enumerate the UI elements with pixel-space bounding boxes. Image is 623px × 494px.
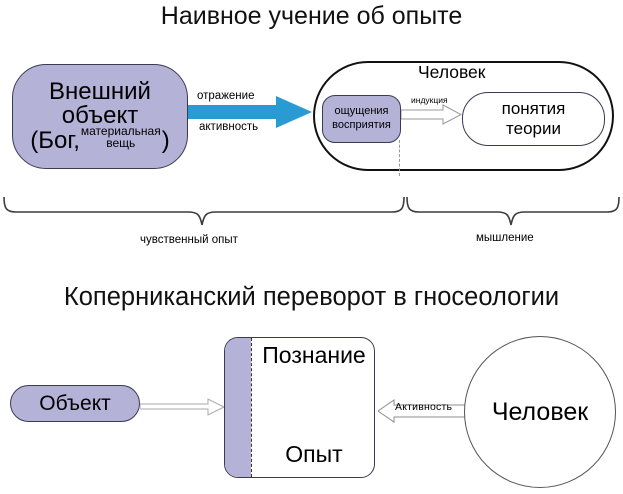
object-to-cognition-arrow-icon (140, 396, 226, 418)
activity-arrow-label: Активность (395, 401, 452, 413)
human-container-label: Человек (418, 62, 485, 83)
bottom-diagram-title: Коперниканский переворот в гносеологии (0, 283, 623, 312)
external-object-paren-close: ) (162, 129, 170, 153)
external-object-box: Внешний объект (Бог, материальная вещь ) (12, 64, 188, 169)
sensations-perceptions-box: ощущения восприятия (322, 95, 401, 143)
external-object-small-line2: вещь (106, 136, 135, 150)
cognition-dashed-divider (251, 338, 252, 477)
slide-canvas: Наивное учение об опыте Внешний объект (… (0, 0, 623, 494)
sensory-experience-brace (2, 196, 406, 228)
object-pill: Объект (10, 385, 140, 422)
thinking-brace (405, 196, 621, 228)
human-circle: Человек (464, 336, 616, 488)
concepts-theories-box: понятия теории (462, 92, 605, 146)
dashed-divider-line (399, 140, 400, 176)
concepts-line2: теории (506, 119, 561, 139)
cognition-label: Познание (255, 342, 373, 369)
induction-arrow-icon (401, 104, 463, 130)
cognition-experience-box: Познание Опыт (224, 337, 375, 478)
external-object-line1: Внешний (49, 80, 151, 104)
concepts-line1: понятия (502, 99, 566, 119)
human-circle-label: Человек (492, 398, 588, 427)
sensations-line2: восприятия (332, 119, 391, 133)
object-pill-label: Объект (39, 392, 111, 416)
sensory-experience-label: чувственный опыт (140, 234, 238, 246)
thinking-label: мышление (476, 232, 534, 244)
reflection-label: отражение (197, 90, 254, 102)
external-object-small-text: материальная вещь (80, 125, 162, 150)
activity-label: активность (199, 121, 258, 133)
top-diagram-title: Наивное учение об опыте (0, 2, 623, 31)
blue-arrow-shaft (188, 105, 280, 119)
external-object-paren-row: (Бог, материальная вещь ) (30, 128, 169, 153)
sensations-line1: ощущения (334, 105, 388, 119)
cognition-purple-strip (225, 338, 251, 477)
experience-label: Опыт (255, 441, 373, 468)
external-object-paren-open: (Бог, (30, 129, 80, 153)
blue-arrow-head-icon (276, 96, 312, 128)
